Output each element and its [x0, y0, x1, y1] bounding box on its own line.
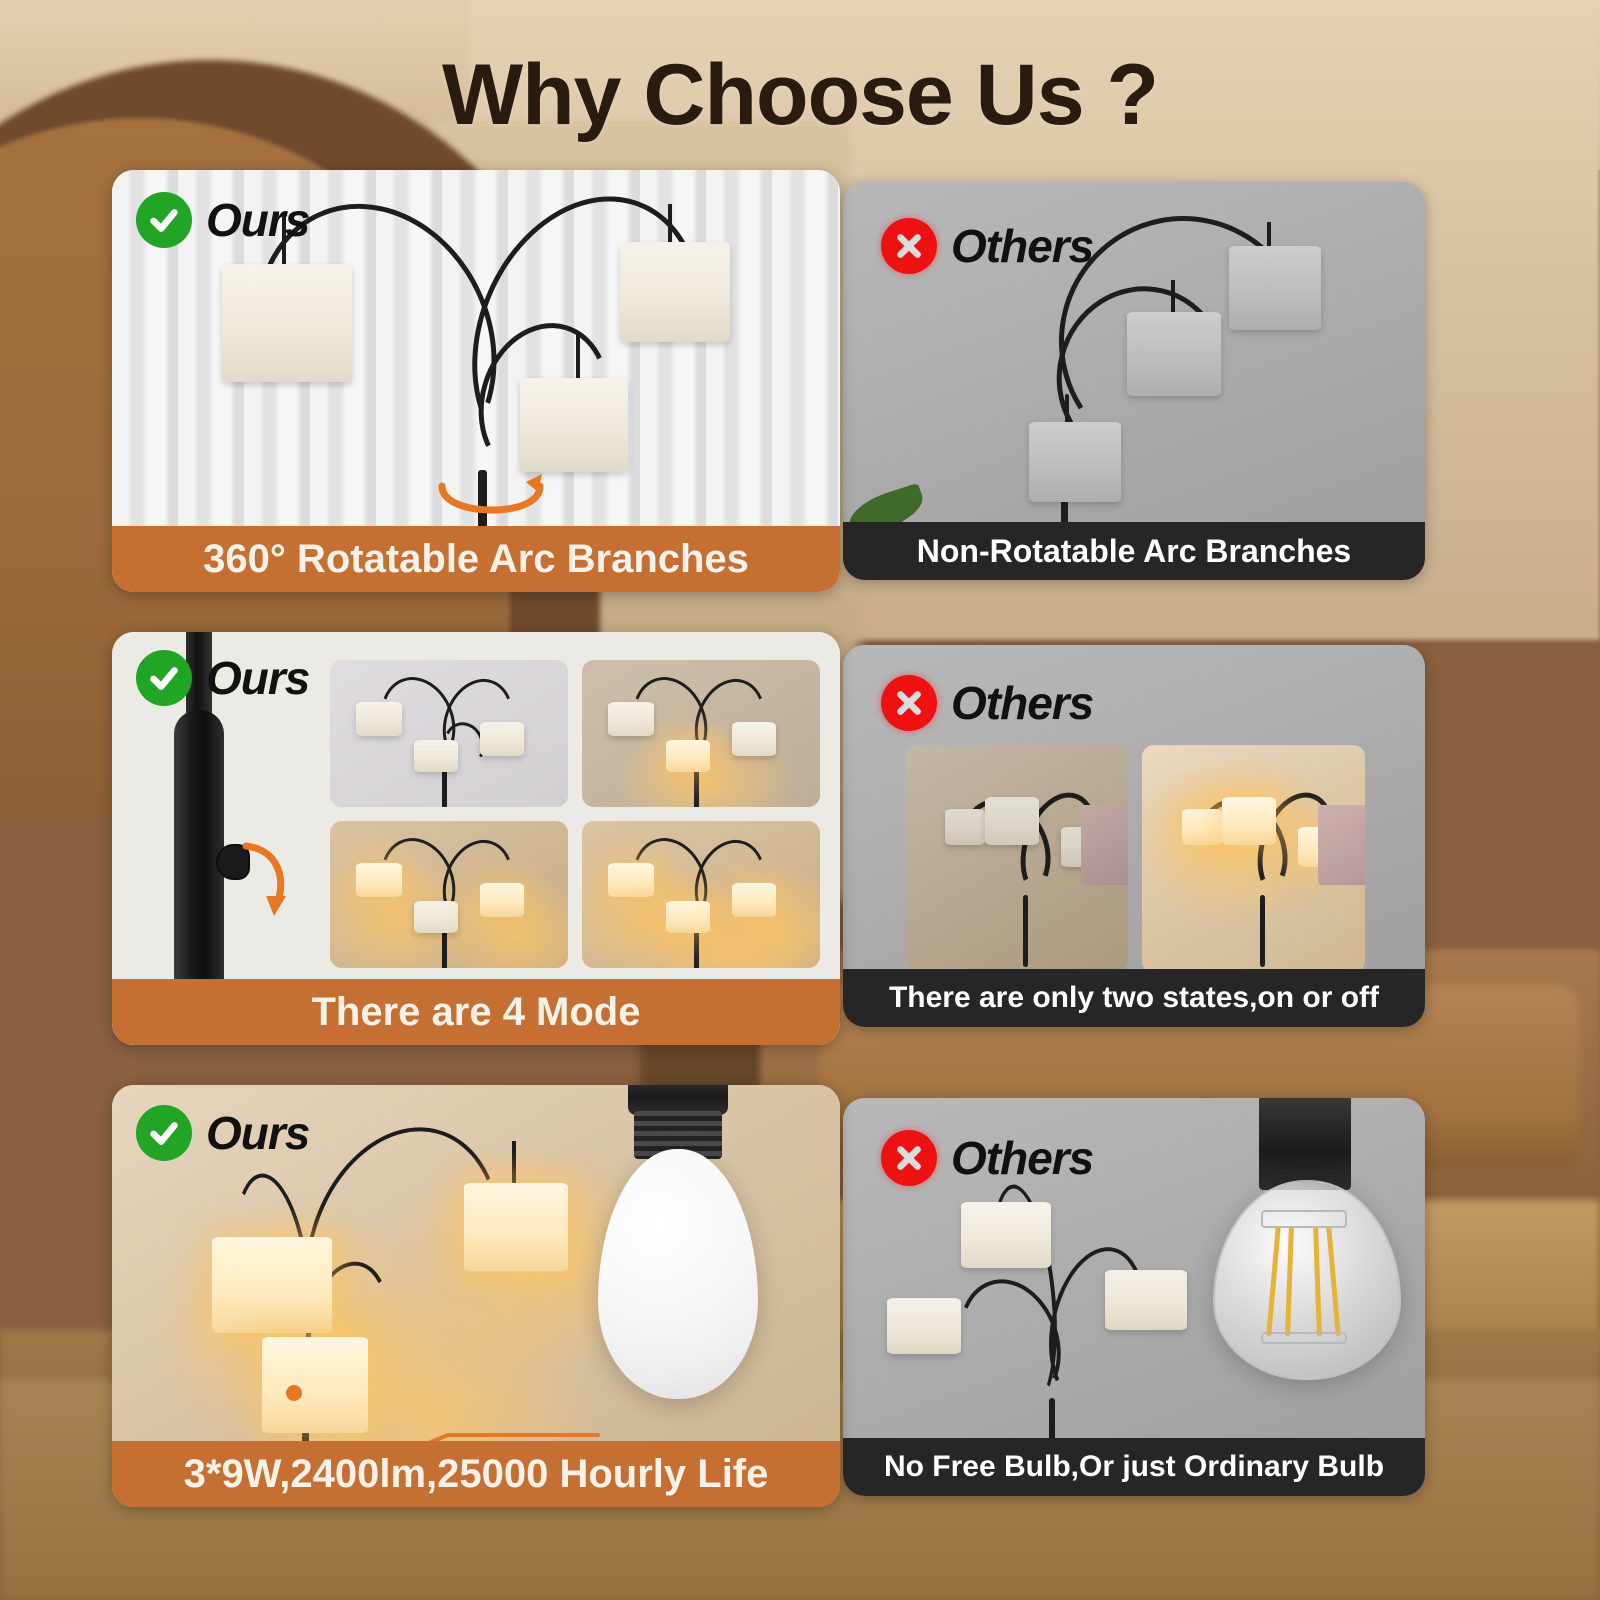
lamp-shade-lit — [666, 740, 710, 772]
lamp-shade — [985, 797, 1039, 845]
thumbnail-grid-others — [905, 745, 1365, 973]
lamp-shade — [1127, 312, 1221, 396]
lamp-drop — [1171, 280, 1175, 316]
cross-icon — [881, 1130, 937, 1186]
callout-dot — [286, 1385, 302, 1401]
lamp-drop — [576, 332, 580, 384]
badge-ours: Ours — [136, 1105, 309, 1161]
lamp-pole — [1023, 895, 1028, 967]
badge-label: Ours — [206, 197, 309, 243]
badge-label: Ours — [206, 1110, 309, 1156]
lamp-shade — [222, 264, 352, 382]
lamp-shade — [414, 901, 458, 933]
card-ours-modes: Ours There are 4 Mode — [112, 632, 840, 1045]
caption-text: 360° Rotatable Arc Branches — [203, 537, 749, 582]
lamp-shade — [1182, 809, 1222, 845]
lamp-pole — [1260, 895, 1265, 967]
caption-others-rotatable: Non-Rotatable Arc Branches — [843, 522, 1425, 580]
cross-icon — [881, 218, 937, 274]
lamp-shade-lit — [356, 863, 402, 897]
badge-others: Others — [881, 1130, 1093, 1186]
thumbnail-lamp-on — [1142, 745, 1365, 973]
lamp-shade — [961, 1202, 1051, 1268]
badge-ours: Ours — [136, 192, 309, 248]
thumbnail-mode-2 — [582, 660, 820, 807]
badge-others: Others — [881, 218, 1093, 274]
lamp-shade-lit — [608, 863, 654, 897]
caption-text: There are only two states,on or off — [889, 981, 1379, 1015]
lamp-shade — [620, 242, 730, 342]
lamp-shade — [212, 1237, 332, 1333]
card-ours-bulbs: Ours 3*9W,2400lm,25000 Hourly Life — [112, 1085, 840, 1507]
rotate-arrow-icon — [220, 830, 300, 934]
badge-others: Others — [881, 675, 1093, 731]
wall-art — [1081, 805, 1128, 885]
caption-others-bulbs: No Free Bulb,Or just Ordinary Bulb — [843, 1438, 1425, 1496]
rotate-arrow-icon — [430, 458, 554, 516]
lamp-shade-lit — [732, 883, 776, 917]
wall-art — [1318, 805, 1365, 885]
caption-ours-bulbs: 3*9W,2400lm,25000 Hourly Life — [112, 1441, 840, 1507]
lamp-shade-lit — [666, 901, 710, 933]
lamp-shade — [945, 809, 985, 845]
lamp-shade — [732, 722, 776, 756]
lamp-shade — [608, 702, 654, 736]
caption-others-modes: There are only two states,on or off — [843, 969, 1425, 1027]
lamp-shade — [1029, 422, 1121, 502]
caption-ours-rotatable: 360° Rotatable Arc Branches — [112, 526, 840, 592]
page-title: Why Choose Us ? — [0, 46, 1600, 145]
thumbnail-lamp-off — [905, 745, 1128, 973]
lamp-shade — [464, 1183, 568, 1271]
card-ours-rotatable: Ours 360° Rotatable Arc Branches — [112, 170, 840, 592]
check-icon — [136, 650, 192, 706]
cross-icon — [881, 675, 937, 731]
lamp-shade — [887, 1298, 961, 1354]
lamp-shade — [1105, 1270, 1187, 1330]
bulb-filament-bridge — [1261, 1210, 1347, 1228]
thumbnail-grid-ours — [330, 660, 820, 968]
bulb-filament-bridge — [1261, 1332, 1347, 1344]
lamp-shade — [414, 740, 458, 772]
lamp-shade — [1229, 246, 1321, 330]
check-icon — [136, 1105, 192, 1161]
badge-label: Ours — [206, 655, 309, 701]
caption-text: No Free Bulb,Or just Ordinary Bulb — [884, 1450, 1384, 1484]
caption-ours-modes: There are 4 Mode — [112, 979, 840, 1045]
caption-text: 3*9W,2400lm,25000 Hourly Life — [184, 1452, 769, 1497]
thumbnail-mode-3 — [330, 821, 568, 968]
lamp-shade — [480, 722, 524, 756]
card-others-modes: Others There are only two states,on or o… — [843, 645, 1425, 1027]
lamp-shade — [1222, 797, 1276, 845]
lamp-shade-lit — [480, 883, 524, 917]
thumbnail-mode-1 — [330, 660, 568, 807]
lamp-shade — [356, 702, 402, 736]
bulb-base — [1259, 1098, 1351, 1190]
caption-text: There are 4 Mode — [311, 990, 640, 1035]
badge-label: Others — [951, 1135, 1093, 1181]
thumbnail-mode-4 — [582, 821, 820, 968]
caption-text: Non-Rotatable Arc Branches — [917, 533, 1351, 570]
badge-ours: Ours — [136, 650, 309, 706]
badge-label: Others — [951, 223, 1093, 269]
card-others-bulbs: Others No Free Bulb,Or just Ordinary Bul… — [843, 1098, 1425, 1496]
check-icon — [136, 192, 192, 248]
card-others-rotatable: Others Non-Rotatable Arc Branches — [843, 182, 1425, 580]
badge-label: Others — [951, 680, 1093, 726]
